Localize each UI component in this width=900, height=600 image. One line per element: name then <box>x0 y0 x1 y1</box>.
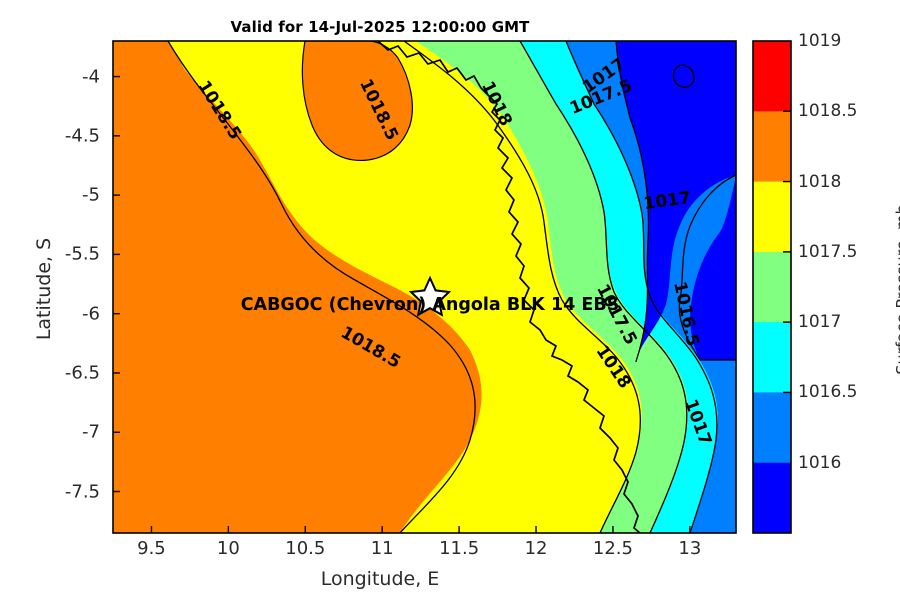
colorbar-tick-label: 1018 <box>798 172 841 192</box>
y-tick-label: -6 <box>38 303 100 324</box>
colorbar-swatch <box>753 111 791 182</box>
colorbar-swatches <box>753 41 791 534</box>
y-tick-label: -5 <box>38 185 100 206</box>
colorbar-tick-label: 1019 <box>798 31 841 51</box>
filled-contour-bands <box>113 41 736 533</box>
x-tick-label: 10.5 <box>285 538 325 559</box>
y-tick-label: -6.5 <box>38 362 100 383</box>
x-tick-label: 12 <box>525 538 548 559</box>
y-tick-label: -4 <box>38 66 100 87</box>
colorbar-tick-label: 1016.5 <box>798 382 857 402</box>
colorbar-tick-label: 1016 <box>798 453 841 473</box>
y-tick-label: -4.5 <box>38 125 100 146</box>
y-tick-label: -7 <box>38 422 100 443</box>
colorbar-swatch <box>753 182 791 253</box>
colorbar-tick-label: 1018.5 <box>798 101 857 121</box>
x-tick-label: 9.5 <box>137 538 166 559</box>
x-axis-label: Longitude, E <box>0 568 760 590</box>
x-tick-label: 11.5 <box>439 538 479 559</box>
station-label: CABGOC (Chevron) Angola BLK 14 EBS <box>241 295 620 315</box>
x-tick-label: 13 <box>678 538 701 559</box>
colorbar-swatch <box>753 322 791 393</box>
colorbar-tick-label: 1017.5 <box>798 242 857 262</box>
colorbar-tick-label: 1017 <box>798 312 841 332</box>
colorbar-swatch <box>753 41 791 112</box>
colorbar-swatch <box>753 392 791 463</box>
x-tick-label: 12.5 <box>593 538 633 559</box>
x-tick-label: 10 <box>217 538 240 559</box>
colorbar-swatch <box>753 252 791 323</box>
figure-canvas: Valid for 14-Jul-2025 12:00:00 GMT <box>0 0 900 600</box>
y-tick-label: -7.5 <box>38 481 100 502</box>
colorbar-swatch <box>753 463 791 534</box>
y-tick-label: -5.5 <box>38 244 100 265</box>
colorbar[interactable] <box>753 41 791 534</box>
x-tick-label: 11 <box>371 538 394 559</box>
contour-plot: 1018.51018.5101810171017.510171017.51016… <box>0 0 900 600</box>
colorbar-label: Surface Pressure, mb <box>893 160 900 420</box>
